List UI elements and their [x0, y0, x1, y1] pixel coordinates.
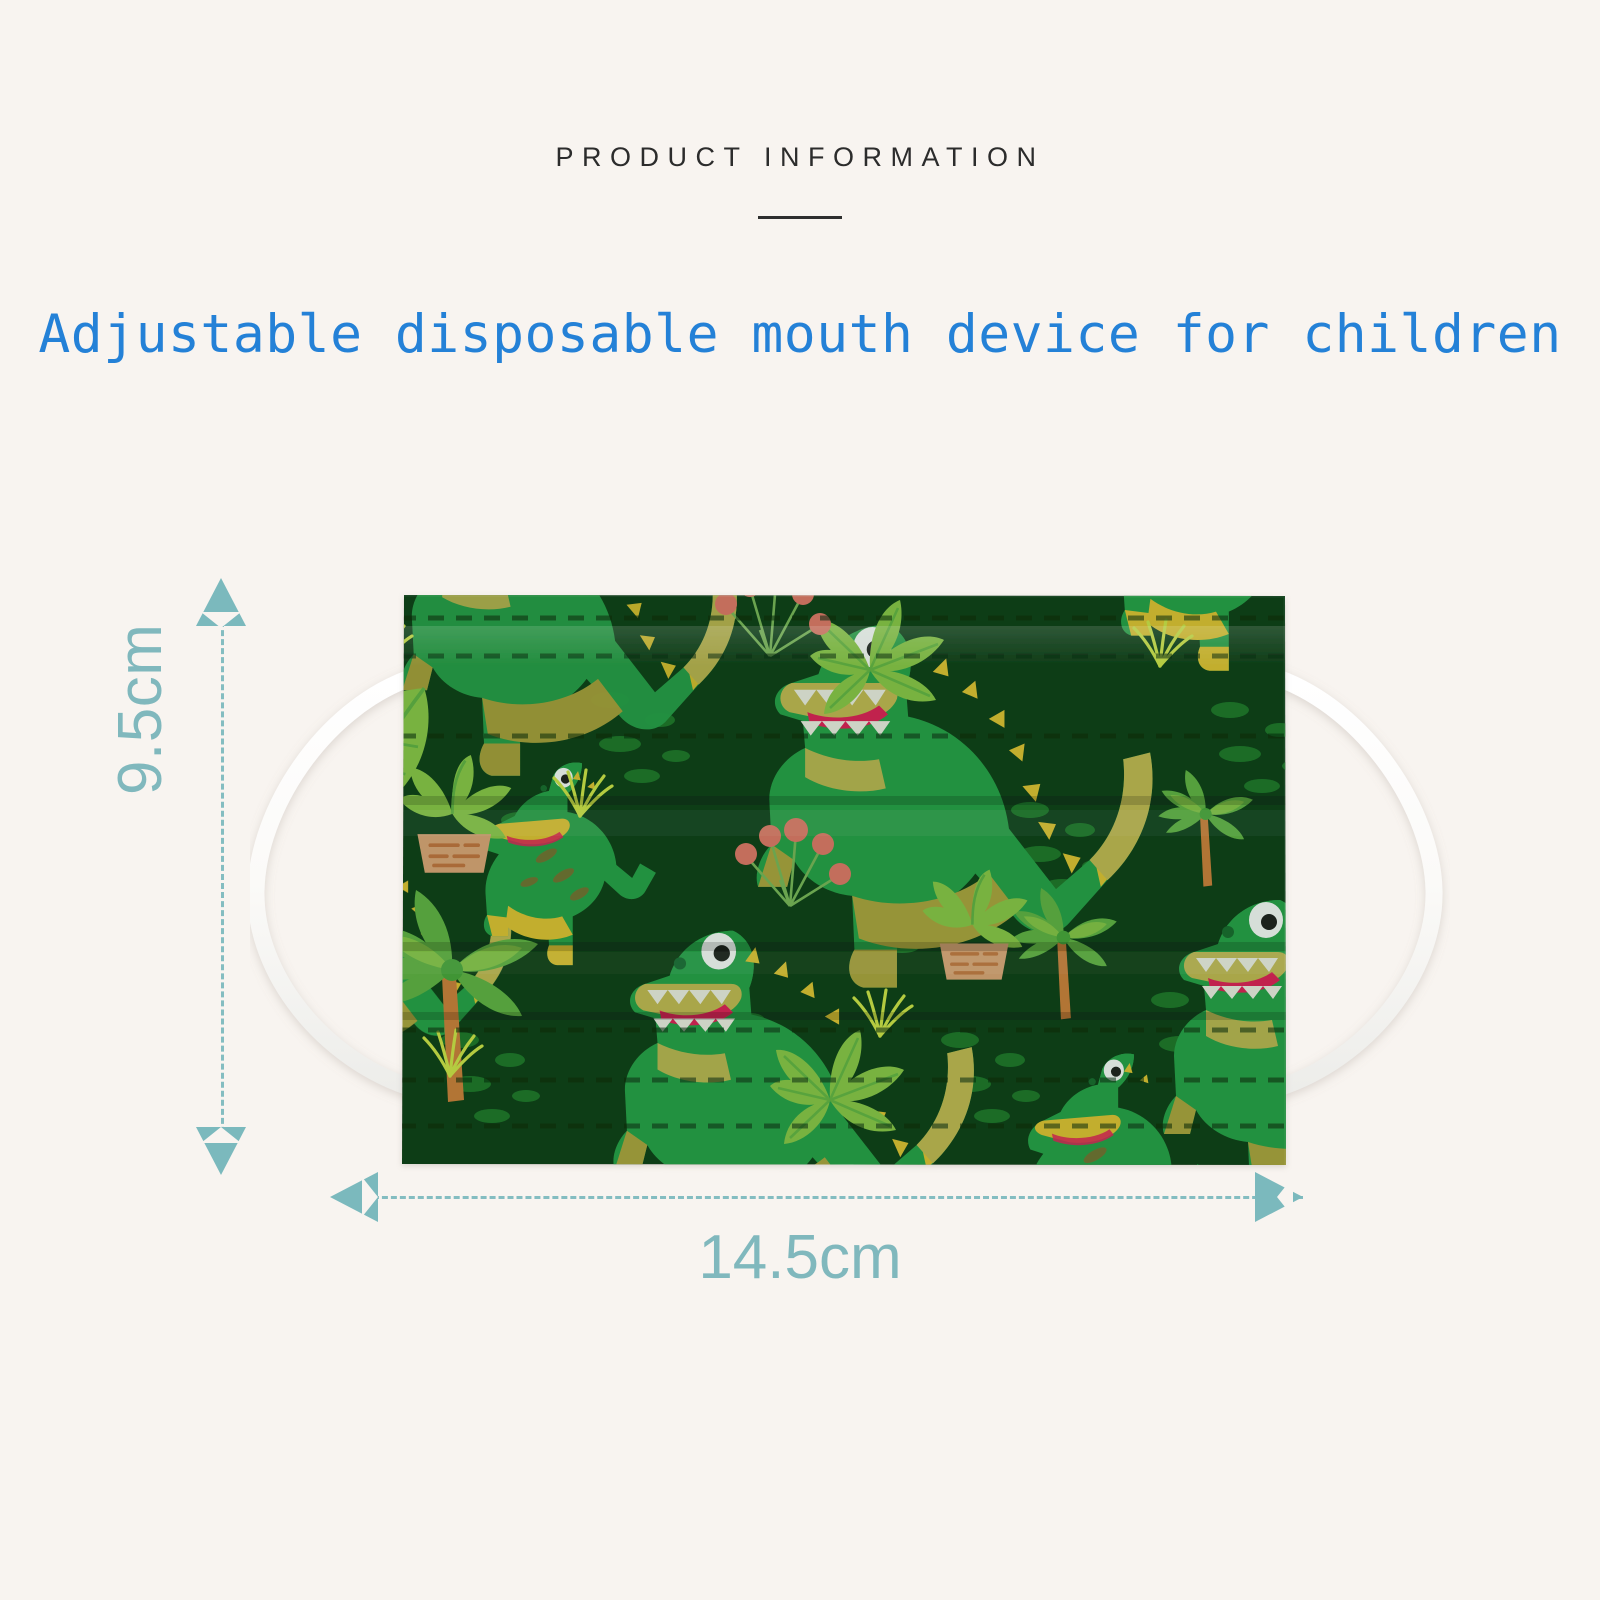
arrow-down-notch	[201, 1127, 241, 1143]
page-title: Adjustable disposable mouth device for c…	[0, 304, 1600, 365]
width-label: 14.5cm	[0, 1222, 1600, 1293]
earloop-left	[256, 678, 412, 1088]
height-dimension-line	[221, 612, 224, 1160]
height-label: 9.5cm	[105, 624, 176, 795]
arrow-up-notch	[201, 612, 241, 628]
product-information-page: PRODUCT INFORMATION Adjustable disposabl…	[0, 0, 1600, 1600]
mask-body	[250, 560, 1450, 1200]
section-eyebrow: PRODUCT INFORMATION	[0, 142, 1600, 173]
header-divider	[758, 216, 842, 219]
earloop-right	[1278, 678, 1434, 1088]
product-image	[250, 560, 1450, 1200]
